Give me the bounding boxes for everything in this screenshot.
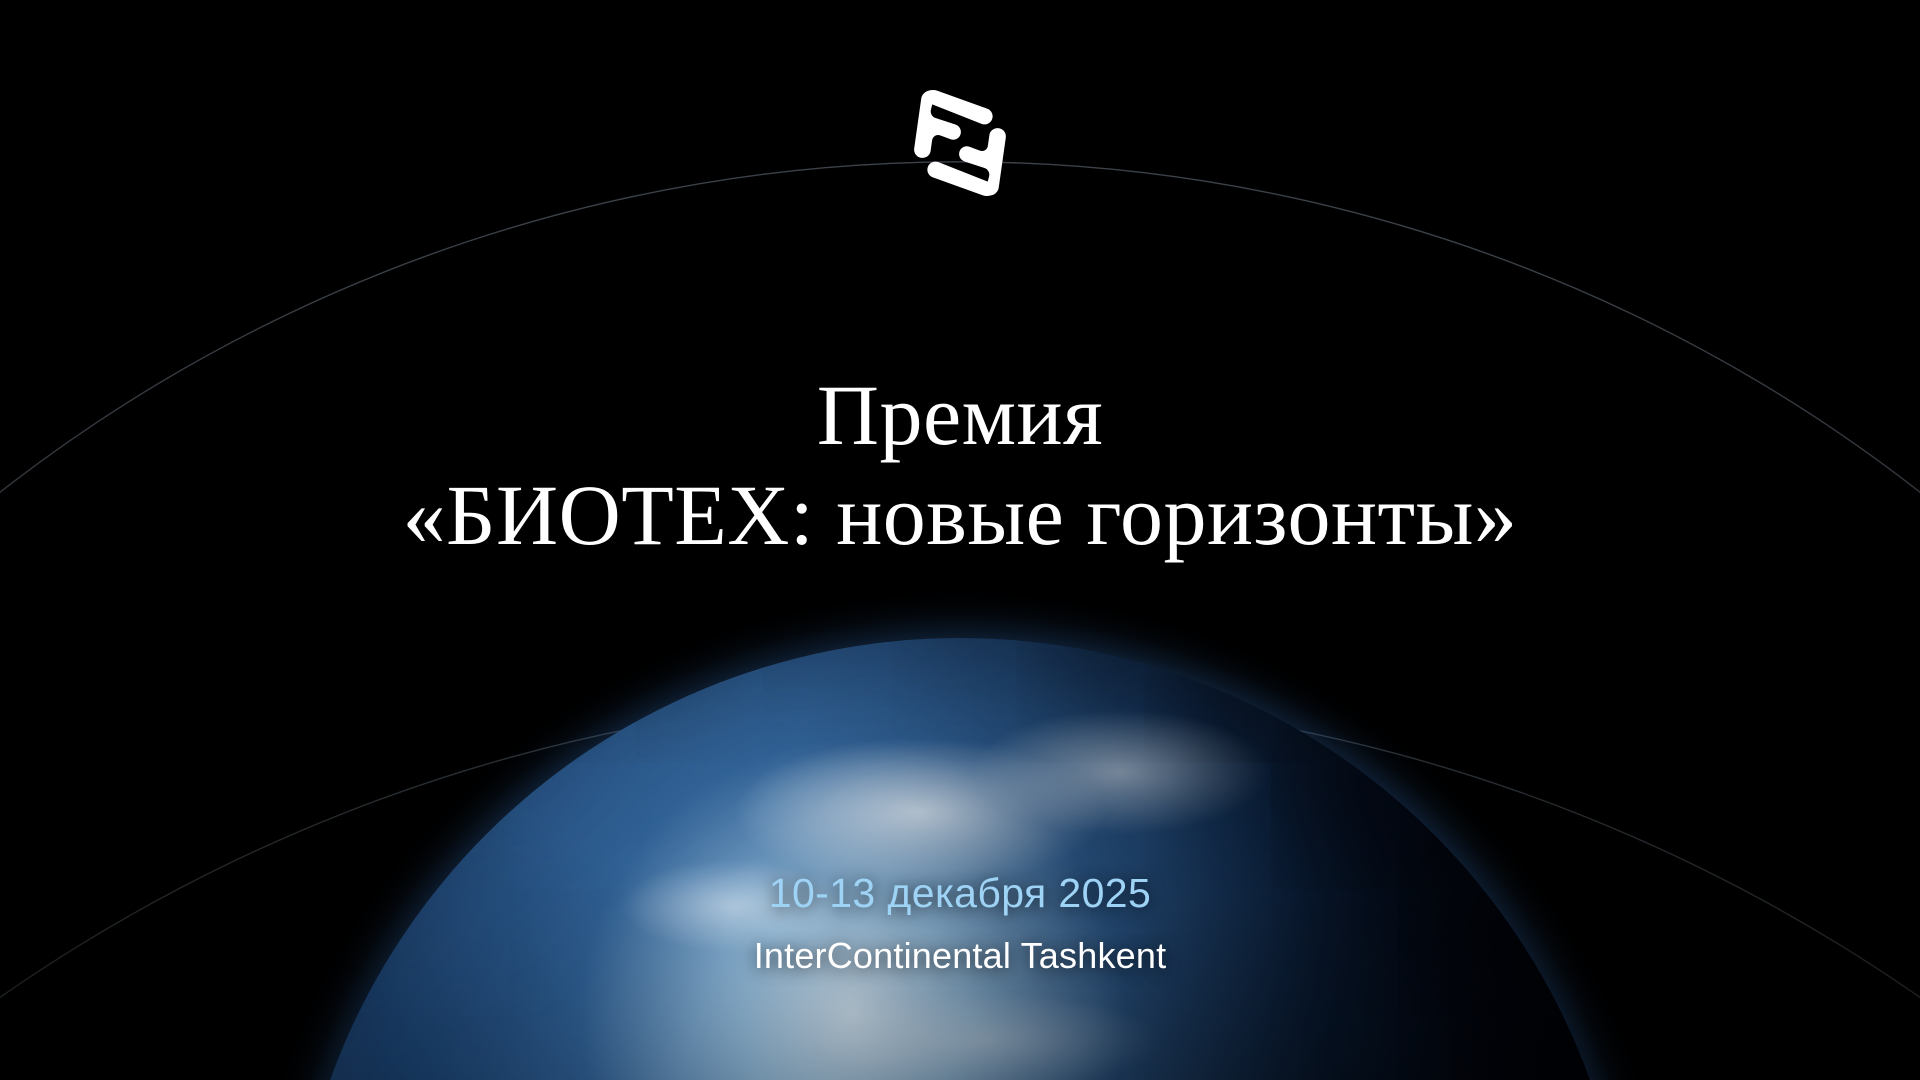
event-date: 10-13 декабря 2025	[0, 873, 1920, 914]
page-title: Премия «БИОТЕХ: новые горизонты»	[0, 366, 1920, 566]
event-details: 10-13 декабря 2025 InterContinental Tash…	[0, 873, 1920, 974]
title-line-2: «БИОТЕХ: новые горизонты»	[0, 466, 1920, 566]
event-title-slide: Премия «БИОТЕХ: новые горизонты» 10-13 д…	[0, 0, 1920, 1080]
title-line-1: Премия	[0, 366, 1920, 466]
brand-logo-icon[interactable]	[880, 68, 1040, 218]
event-venue: InterContinental Tashkent	[0, 938, 1920, 974]
